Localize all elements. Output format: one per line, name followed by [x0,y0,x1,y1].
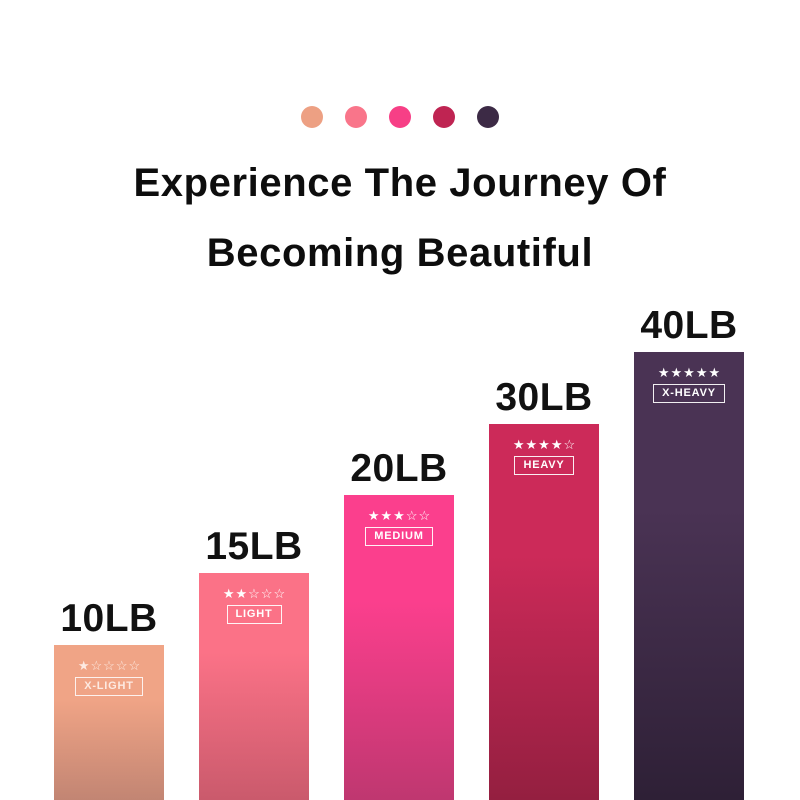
star-filled-icon: ★ [513,438,525,451]
star-filled-icon: ★ [381,509,393,522]
star-filled-icon: ★ [671,366,683,379]
star-empty-icon: ☆ [128,659,140,672]
rating-stars: ★★☆☆☆ [223,587,285,600]
bar-column-x-heavy[interactable]: 40LB★★★★★X-HEAVY [634,352,744,800]
resistance-level-label: X-LIGHT [75,677,143,696]
star-empty-icon: ☆ [103,659,115,672]
bar-value-label: 15LB [199,525,309,569]
star-filled-icon: ★ [696,366,708,379]
bar-badge: ★★☆☆☆LIGHT [199,587,309,624]
star-filled-icon: ★ [236,587,248,600]
bar-value-label: 10LB [54,597,164,641]
bar-badge: ★★★★★X-HEAVY [634,366,744,403]
star-empty-icon: ☆ [261,587,273,600]
rating-stars: ★★★★☆ [513,438,575,451]
bar-fill: ★★★★★X-HEAVY [634,352,744,800]
star-empty-icon: ☆ [248,587,260,600]
bar-value-label: 30LB [489,376,599,420]
star-filled-icon: ★ [708,366,720,379]
resistance-level-label: MEDIUM [365,527,432,546]
star-filled-icon: ★ [658,366,670,379]
rating-stars: ★★★★★ [658,366,720,379]
star-empty-icon: ☆ [273,587,285,600]
star-filled-icon: ★ [223,587,235,600]
bar-value-label: 40LB [634,304,744,348]
bar-value-label: 20LB [344,447,454,491]
bar-column-light[interactable]: 15LB★★☆☆☆LIGHT [199,573,309,800]
resistance-level-label: HEAVY [514,456,573,475]
bar-column-medium[interactable]: 20LB★★★☆☆MEDIUM [344,495,454,800]
star-empty-icon: ☆ [91,659,103,672]
rating-stars: ★☆☆☆☆ [78,659,140,672]
star-empty-icon: ☆ [563,438,575,451]
bar-badge: ★★★☆☆MEDIUM [344,509,454,546]
star-empty-icon: ☆ [406,509,418,522]
bar-column-x-light[interactable]: 10LB★☆☆☆☆X-LIGHT [54,645,164,800]
star-filled-icon: ★ [368,509,380,522]
star-filled-icon: ★ [551,438,563,451]
bar-fill: ★☆☆☆☆X-LIGHT [54,645,164,800]
bar-fill: ★★★★☆HEAVY [489,424,599,800]
star-filled-icon: ★ [526,438,538,451]
bar-fill: ★★★☆☆MEDIUM [344,495,454,800]
star-empty-icon: ☆ [116,659,128,672]
star-filled-icon: ★ [538,438,550,451]
bar-column-heavy[interactable]: 30LB★★★★☆HEAVY [489,424,599,800]
rating-stars: ★★★☆☆ [368,509,430,522]
bar-fill: ★★☆☆☆LIGHT [199,573,309,800]
star-filled-icon: ★ [393,509,405,522]
resistance-level-label: X-HEAVY [653,384,725,403]
resistance-level-label: LIGHT [227,605,282,624]
star-filled-icon: ★ [78,659,90,672]
bar-badge: ★★★★☆HEAVY [489,438,599,475]
bar-badge: ★☆☆☆☆X-LIGHT [54,659,164,696]
star-filled-icon: ★ [683,366,695,379]
star-empty-icon: ☆ [418,509,430,522]
resistance-band-bar-chart: 10LB★☆☆☆☆X-LIGHT15LB★★☆☆☆LIGHT20LB★★★☆☆M… [0,0,800,800]
